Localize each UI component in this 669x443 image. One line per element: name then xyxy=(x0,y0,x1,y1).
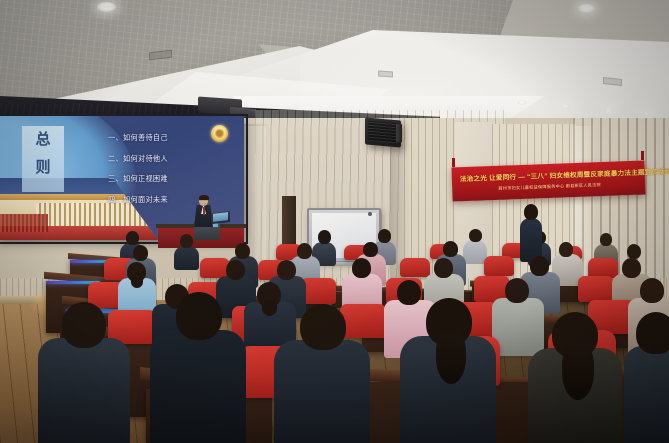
attendee-head xyxy=(318,230,331,244)
attendee-head xyxy=(226,260,245,280)
attendee-head xyxy=(378,229,391,243)
attendee-head xyxy=(300,304,346,350)
presenter-hair xyxy=(199,195,209,200)
attendee-head xyxy=(636,312,669,354)
attendee-torso xyxy=(274,340,370,443)
attendee-head xyxy=(434,258,453,278)
downlight-icon xyxy=(604,108,613,113)
attendee-head xyxy=(176,292,222,340)
attendee-head xyxy=(62,302,106,348)
attendee-head xyxy=(235,243,250,259)
attendee-head xyxy=(363,242,378,257)
attendee-head xyxy=(505,278,529,303)
attendee-head xyxy=(640,278,664,303)
attendee-ponytail xyxy=(436,332,466,384)
attendee-head xyxy=(180,234,193,248)
downlight-icon xyxy=(97,2,116,12)
attendee-head xyxy=(133,245,148,261)
attendee-head xyxy=(600,233,612,246)
attendee-head xyxy=(627,244,641,259)
attendee-head xyxy=(469,229,482,242)
attendee-head xyxy=(443,241,458,257)
banner-tie-right xyxy=(641,151,644,160)
attendee-hair xyxy=(262,300,277,316)
whiteboard-clip xyxy=(368,212,372,216)
attendee-ponytail xyxy=(562,344,594,400)
attendee-head xyxy=(530,256,549,276)
banner-subline: 蔚州市妇女儿童权益保障服务中心 蔚县新区人民法院 xyxy=(460,181,639,194)
attendee-head xyxy=(622,258,641,278)
conference-hall-photo: 总 则 一、如何善待自己 二、如何对待他人 三、如何正视困难 四、如何面对未来 … xyxy=(0,0,669,443)
loudspeaker-grille xyxy=(368,121,398,144)
downlight-icon xyxy=(517,100,527,105)
chair[interactable] xyxy=(588,258,618,278)
attendee-torso xyxy=(624,346,669,443)
chair[interactable] xyxy=(400,258,430,277)
attendee-head xyxy=(126,231,139,245)
attendee-torso xyxy=(150,330,246,443)
event-banner: 法治之光 让爱同行 — “三八” 妇女维权周暨反家庭暴力法主题宣传活动 蔚州市妇… xyxy=(451,160,645,201)
loudspeaker-bracket xyxy=(396,124,402,143)
attendee-head xyxy=(397,280,421,305)
downlight-icon xyxy=(578,4,595,13)
standing-attendee-head xyxy=(524,204,538,220)
chair[interactable] xyxy=(484,256,514,276)
attendee-head xyxy=(352,258,371,278)
banner-tie-left xyxy=(452,158,455,167)
attendee-head xyxy=(277,260,296,280)
chair[interactable] xyxy=(578,276,614,302)
downlight-icon xyxy=(643,112,651,116)
attendee-torso xyxy=(174,246,199,270)
attendee-head xyxy=(559,242,573,257)
downlight-icon xyxy=(561,104,570,109)
attendee-hair xyxy=(131,276,143,288)
ceiling-vent xyxy=(378,70,393,77)
attendee-torso xyxy=(38,338,130,443)
presenter-tie xyxy=(203,207,205,215)
attendee-head xyxy=(297,243,312,259)
chair[interactable] xyxy=(340,304,386,338)
